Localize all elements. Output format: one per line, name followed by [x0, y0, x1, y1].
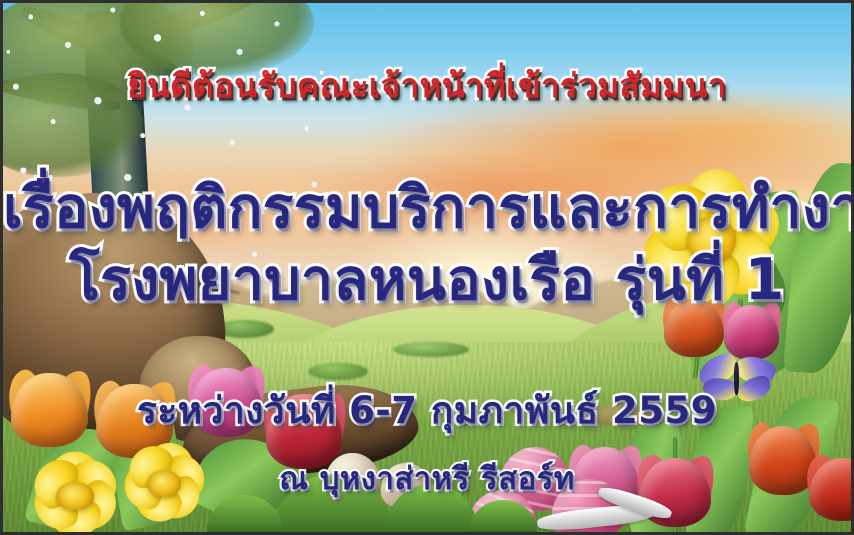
welcome-headline: ยินดีต้อนรับคณะเจ้าหน้าที่เข้าร่วมสัมมนา — [3, 59, 851, 112]
organization-line: โรงพยาบาลหนองเรือ รุ่นที่ 1 — [3, 235, 851, 325]
event-dates-line: ระหว่างวันที่ 6-7 กุมภาพันธ์ 2559 — [3, 381, 851, 440]
venue-line: ณ บุหงาส่าหรี รีสอร์ท — [3, 453, 851, 503]
banner-text-layer: ยินดีต้อนรับคณะเจ้าหน้าที่เข้าร่วมสัมมนา… — [3, 3, 851, 532]
seminar-banner: ยินดีต้อนรับคณะเจ้าหน้าที่เข้าร่วมสัมมนา… — [0, 0, 854, 535]
